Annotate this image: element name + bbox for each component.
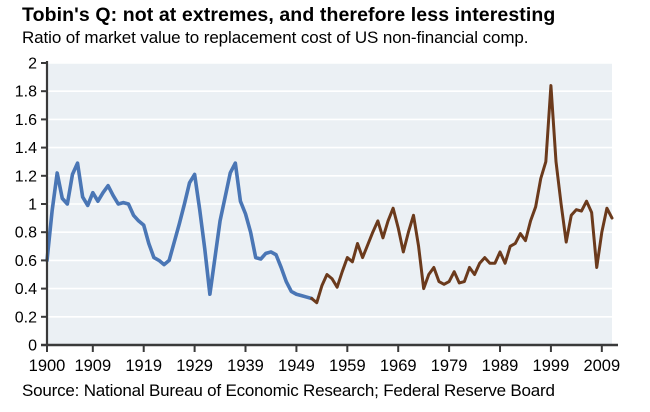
x-axis-tick-label: 1909 [74,357,111,375]
x-axis-tick-label: 1939 [227,357,264,375]
x-axis-tick-label: 1989 [482,357,519,375]
source-note: Source: National Bureau of Economic Rese… [22,381,555,401]
x-axis-tick-label: 1929 [176,357,213,375]
x-axis-tick-label: 1949 [278,357,315,375]
y-axis-tick-label: 2 [28,56,37,73]
y-axis-tick-label: 1.2 [15,168,37,185]
x-axis-tick-label: 1969 [380,357,417,375]
y-axis-tick-label: 0 [28,338,37,355]
x-axis-tick-label: 1900 [29,357,66,375]
chart-figure: Tobin's Q: not at extremes, and therefor… [0,0,650,412]
x-axis-tick-label: 1959 [329,357,366,375]
y-axis-tick-label: 1.8 [15,84,37,101]
x-axis-tick-label: 1999 [533,357,570,375]
y-axis-tick-label: 0.6 [15,253,37,270]
x-axis-tick-label: 1979 [431,357,468,375]
x-axis-tick-label: 2009 [583,357,620,375]
y-axis-tick-label: 0.4 [15,281,37,298]
plot-area: 00.20.40.60.811.21.41.61.821900190919191… [0,0,650,412]
x-axis-tick-label: 1919 [125,357,162,375]
y-axis-tick-label: 1.6 [15,112,37,129]
y-axis-tick-label: 0.2 [15,309,37,326]
y-axis-tick-label: 1 [28,197,37,214]
y-axis-tick-label: 0.8 [15,225,37,242]
y-axis-tick-label: 1.4 [15,140,37,157]
